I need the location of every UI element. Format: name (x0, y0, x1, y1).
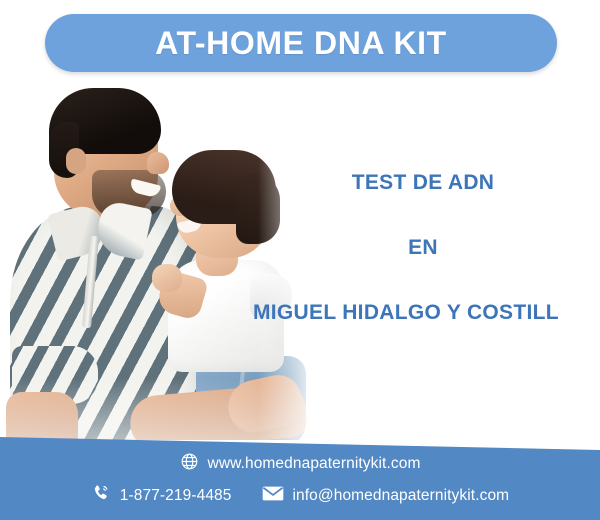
email-contact[interactable]: info@homednapaternitykit.com (262, 485, 510, 507)
heading-line-1: TEST DE ADN (246, 172, 600, 193)
footer-row-phone-email: 1-877-219-4485 info@homednapaternitykit.… (91, 483, 509, 508)
footer-contact-bar: www.homednapaternitykit.com 1-877-219-44… (0, 430, 600, 520)
photo-bottom-fade (0, 378, 342, 440)
phone-label: 1-877-219-4485 (120, 488, 232, 504)
dna-kit-promo-card: AT-HOME DNA KIT (0, 0, 600, 520)
phone-icon (91, 483, 111, 508)
heading-line-3: MIGUEL HIDALGO Y COSTILL (253, 302, 600, 323)
man-ear (66, 148, 86, 174)
email-label: info@homednapaternitykit.com (293, 488, 510, 504)
child-hand (152, 264, 182, 292)
globe-icon (180, 452, 199, 476)
website-label: www.homednapaternitykit.com (208, 456, 421, 472)
page-title: AT-HOME DNA KIT (155, 27, 447, 59)
promo-headings: TEST DE ADN EN MIGUEL HIDALGO Y COSTILL (246, 158, 600, 323)
footer-rows: www.homednapaternitykit.com 1-877-219-44… (0, 452, 600, 508)
phone-contact[interactable]: 1-877-219-4485 (91, 483, 232, 508)
header-banner: AT-HOME DNA KIT (45, 14, 557, 72)
man-nose (147, 152, 169, 174)
footer-row-website: www.homednapaternitykit.com (180, 452, 421, 476)
heading-line-2: EN (246, 237, 600, 258)
envelope-icon (262, 485, 284, 507)
website-contact[interactable]: www.homednapaternitykit.com (180, 452, 421, 476)
